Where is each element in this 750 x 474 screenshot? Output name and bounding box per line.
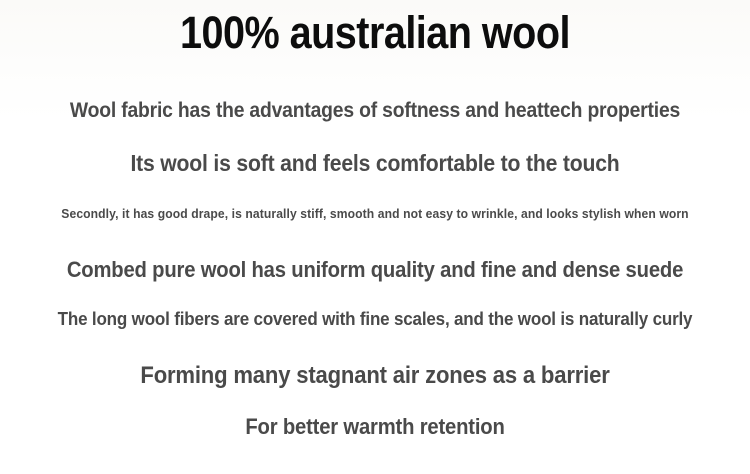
page-title: 100% australian wool — [64, 6, 685, 60]
feature-line-2: Its wool is soft and feels comfortable t… — [50, 148, 700, 178]
product-description-page: 100% australian wool Wool fabric has the… — [0, 0, 750, 474]
feature-line-6: Forming many stagnant air zones as a bar… — [50, 360, 700, 392]
feature-line-3: Secondly, it has good drape, is naturall… — [33, 205, 718, 223]
feature-line-5: The long wool fibers are covered with fi… — [50, 306, 700, 332]
feature-line-1: Wool fabric has the advantages of softne… — [50, 97, 700, 125]
feature-line-7: For better warmth retention — [50, 412, 700, 442]
feature-line-4: Combed pure wool has uniform quality and… — [50, 255, 700, 285]
